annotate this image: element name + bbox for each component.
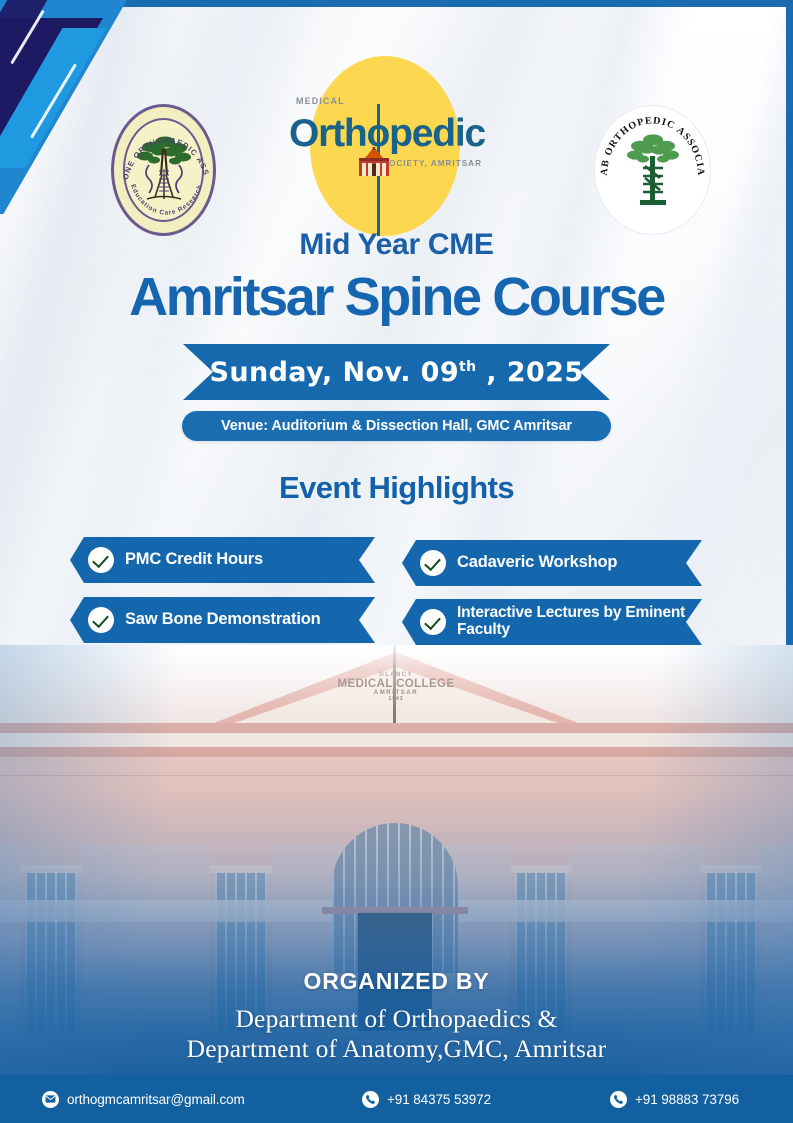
logo-medical-label: MEDICAL: [296, 96, 345, 106]
logo-row: NORTH ZONE ORTHOPAEDIC ASSOCIATION Educa…: [0, 44, 793, 214]
contact-phone-2[interactable]: +91 98883 73796: [610, 1091, 739, 1108]
check-icon: [420, 609, 446, 635]
organizer-line-2: Department of Anatomy,GMC, Amritsar: [0, 1034, 793, 1064]
contact-email[interactable]: orthogmcamritsar@gmail.com: [42, 1091, 245, 1108]
highlights-heading: Event Highlights: [0, 470, 793, 506]
north-zone-orthopaedic-association-logo: NORTH ZONE ORTHOPAEDIC ASSOCIATION Educa…: [111, 104, 216, 236]
highlight-item-interactive-lectures: Interactive Lectures by Eminent Faculty: [402, 599, 702, 645]
check-icon: [420, 550, 446, 576]
medical-orthopedic-society-logo: MEDICAL Orthopedic SOCIETY, AMRITSAR: [310, 56, 460, 236]
logo-ring-text: PUNJAB ORTHOPEDIC ASSOCIATION: [595, 106, 710, 234]
svg-text:NORTH ZONE ORTHOPAEDIC ASSOCIA: NORTH ZONE ORTHOPAEDIC ASSOCIATION: [114, 107, 211, 181]
event-poster: NORTH ZONE ORTHOPAEDIC ASSOCIATION Educa…: [0, 0, 793, 1123]
highlight-item-pmc-credit-hours: PMC Credit Hours: [70, 537, 375, 583]
svg-text:Education Care Research: Education Care Research: [129, 183, 204, 216]
punjab-orthopedic-association-logo: PUNJAB ORTHOPEDIC ASSOCIATION: [595, 106, 710, 234]
highlight-item-cadaveric-workshop: Cadaveric Workshop: [402, 540, 702, 586]
logo-ring-text: NORTH ZONE ORTHOPAEDIC ASSOCIATION Educa…: [114, 107, 216, 236]
contact-bar: orthogmcamritsar@gmail.com +91 84375 539…: [0, 1075, 793, 1123]
contact-email-text: orthogmcamritsar@gmail.com: [67, 1092, 245, 1107]
highlight-label: Interactive Lectures by Eminent Faculty: [457, 605, 702, 638]
golden-temple-icon: [357, 147, 391, 177]
contact-phone-1[interactable]: +91 84375 53972: [362, 1091, 491, 1108]
check-icon: [88, 607, 114, 633]
contact-phone-1-text: +91 84375 53972: [387, 1092, 491, 1107]
highlight-label: Saw Bone Demonstration: [125, 611, 320, 629]
svg-text:PUNJAB ORTHOPEDIC ASSOCIATION: PUNJAB ORTHOPEDIC ASSOCIATION: [595, 106, 706, 176]
logo-society-label: SOCIETY, AMRITSAR: [383, 159, 483, 168]
eyebrow-title: Mid Year CME: [0, 228, 793, 262]
highlight-label: Cadaveric Workshop: [457, 554, 617, 572]
logo-wordmark: MEDICAL Orthopedic SOCIETY, AMRITSAR: [282, 114, 492, 153]
highlight-label: PMC Credit Hours: [125, 551, 263, 569]
date-prefix: Sunday, Nov. 09: [209, 357, 459, 388]
organized-by-heading: ORGANIZED BY: [0, 968, 793, 995]
date-text: Sunday, Nov. 09th , 2025: [209, 357, 583, 388]
date-superscript: th: [459, 359, 476, 375]
phone-icon: [362, 1091, 379, 1108]
organizer-departments: Department of Orthopaedics & Department …: [0, 1004, 793, 1064]
envelope-icon: [42, 1091, 59, 1108]
phone-icon: [610, 1091, 627, 1108]
highlight-item-saw-bone-demonstration: Saw Bone Demonstration: [70, 597, 375, 643]
check-icon: [88, 547, 114, 573]
contact-phone-2-text: +91 98883 73796: [635, 1092, 739, 1107]
organizer-line-1: Department of Orthopaedics &: [0, 1004, 793, 1034]
venue-text: Venue: Auditorium & Dissection Hall, GMC…: [221, 418, 572, 434]
page-title: Amritsar Spine Course: [0, 266, 793, 328]
date-banner: Sunday, Nov. 09th , 2025: [183, 344, 610, 400]
date-suffix: , 2025: [477, 357, 584, 388]
venue-badge: Venue: Auditorium & Dissection Hall, GMC…: [182, 411, 611, 441]
